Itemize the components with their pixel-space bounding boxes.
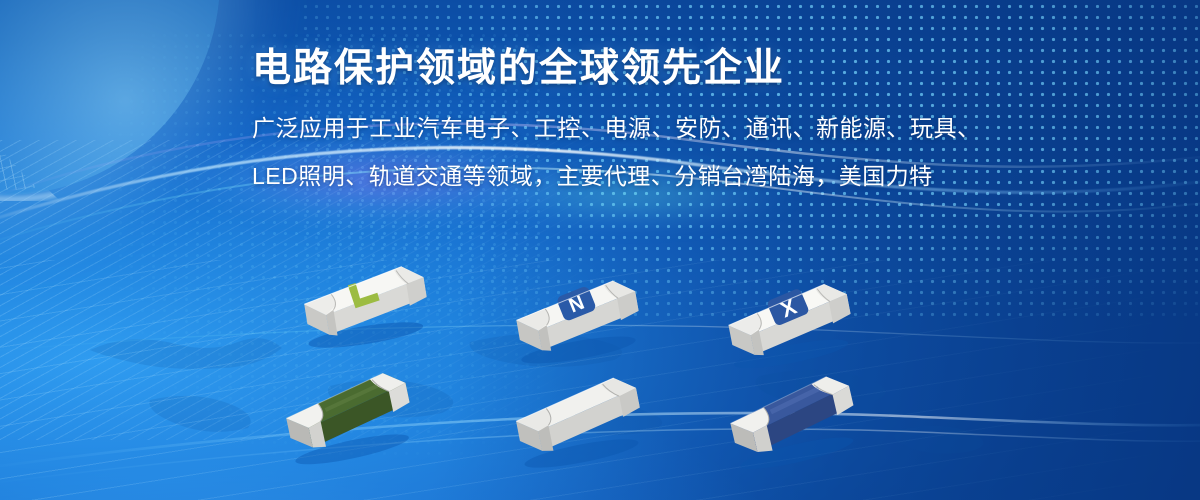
product-fuse-l xyxy=(288,243,438,353)
product-fuse-x: X xyxy=(712,262,862,372)
product-fuse-blue xyxy=(714,360,864,470)
product-fuse-plain xyxy=(500,360,650,470)
product-fuse-n: N xyxy=(500,258,650,368)
promo-banner: 电路保护领域的全球领先企业 广泛应用于工业汽车电子、工控、电源、安防、通讯、新能… xyxy=(0,0,1200,500)
product-fuse-green xyxy=(270,356,420,466)
product-showcase: N xyxy=(0,0,1200,500)
